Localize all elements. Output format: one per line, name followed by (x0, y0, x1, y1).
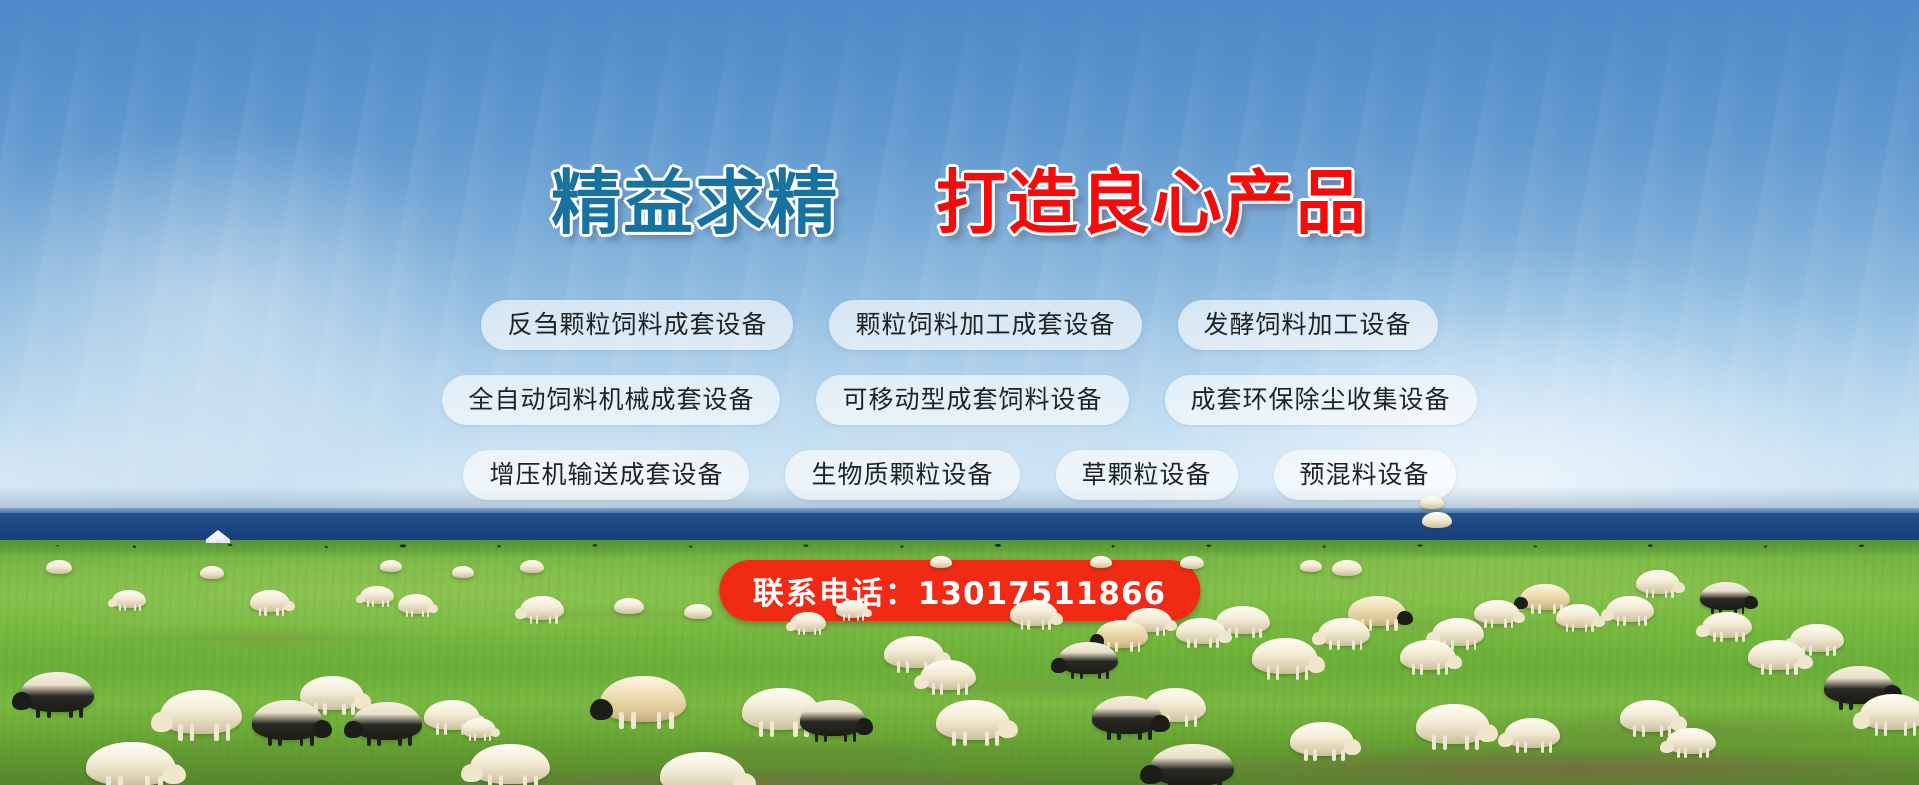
sheep (1400, 640, 1456, 670)
sheep (1300, 560, 1322, 572)
sheep-head (515, 608, 527, 619)
sheep (1010, 600, 1058, 626)
product-category-pill[interactable]: 发酵饲料加工设备 (1178, 300, 1438, 350)
sheep-head (1344, 739, 1361, 755)
sheep-leg (158, 776, 163, 785)
sheep-leg (259, 607, 261, 615)
sheep-leg (770, 721, 774, 737)
sheep-leg (1071, 667, 1074, 679)
sheep-leg (1235, 628, 1238, 639)
sheep-leg (214, 724, 219, 741)
sheep-leg (1341, 749, 1345, 762)
sheep-head (1744, 596, 1758, 609)
sheep-leg (264, 607, 266, 615)
sheep-leg (815, 728, 819, 742)
sheep-leg (1541, 741, 1544, 752)
sheep (1058, 642, 1118, 674)
sheep-leg (408, 732, 412, 746)
sheep-leg (1484, 619, 1487, 628)
sheep-leg (427, 610, 429, 618)
sheep-head (856, 718, 874, 735)
sheep-leg (1329, 640, 1332, 651)
sheep-leg (1644, 616, 1647, 626)
sheep-leg (411, 610, 413, 618)
sheep-leg (106, 776, 111, 785)
sheep (1700, 582, 1752, 610)
sheep (252, 700, 324, 740)
sheep-leg (1794, 663, 1797, 674)
sheep (1666, 728, 1716, 754)
sheep-leg (1660, 725, 1663, 737)
sheep (1606, 596, 1654, 622)
product-category-pill[interactable]: 预混料设备 (1274, 450, 1456, 500)
sheep (936, 700, 1010, 740)
sheep-leg (1769, 663, 1772, 674)
sheep-leg (1217, 777, 1222, 785)
sheep-head (428, 604, 438, 613)
sheep (1332, 560, 1362, 576)
sheep (1290, 722, 1354, 756)
sheep (86, 742, 176, 785)
sheep-leg (1305, 666, 1309, 680)
headline-part-1: 精益求精 (551, 162, 839, 244)
sheep-body (1090, 556, 1112, 568)
sheep-leg (372, 600, 374, 607)
sheep (600, 676, 686, 722)
sheep-leg (1524, 741, 1527, 752)
sheep-body (1422, 512, 1452, 528)
sheep-leg (1432, 735, 1436, 750)
sheep-leg (530, 615, 532, 624)
sheep (1252, 638, 1318, 674)
sheep-leg (1549, 741, 1552, 752)
sheep-leg (932, 683, 935, 694)
sheep-leg (1516, 741, 1519, 752)
sheep-leg (1699, 748, 1702, 758)
sheep (46, 560, 72, 574)
sheep-leg (1163, 627, 1166, 636)
sheep (1150, 744, 1234, 785)
sheep (520, 560, 544, 573)
sheep-leg (190, 724, 195, 741)
sheep-leg (995, 731, 999, 746)
sheep-leg (1706, 748, 1709, 758)
sheep-leg (1296, 666, 1300, 680)
sheep-leg (1786, 663, 1789, 674)
sheep-leg (1313, 749, 1317, 762)
sheep (1318, 618, 1370, 646)
product-category-pill[interactable]: 反刍颗粒饲料成套设备 (481, 300, 793, 350)
sheep-leg (1185, 715, 1188, 728)
sheep-leg (1252, 628, 1255, 639)
sheep (398, 594, 434, 614)
sheep-body (380, 560, 402, 572)
product-category-pill[interactable]: 草颗粒设备 (1056, 450, 1238, 500)
sheep (790, 612, 826, 632)
sheep (1504, 718, 1560, 748)
sheep-leg (1107, 726, 1111, 740)
sheep-leg (489, 734, 491, 742)
sheep-leg (814, 628, 816, 636)
sheep-leg (1267, 666, 1271, 680)
sheep-leg (1475, 735, 1479, 750)
sheep-body (452, 566, 474, 578)
sheep-leg (862, 614, 864, 621)
sheep (200, 566, 224, 579)
headline-part-2: 打造良心产品 (936, 162, 1368, 244)
sheep-head (786, 622, 796, 631)
sheep-leg (793, 721, 797, 737)
sheep-leg (853, 728, 857, 742)
sheep (1416, 704, 1490, 744)
sheep-leg (474, 734, 476, 742)
sheep-leg (278, 731, 282, 746)
product-category-pill[interactable]: 生物质颗粒设备 (785, 450, 1019, 500)
sheep-leg (1209, 638, 1212, 648)
sheep-leg (1720, 632, 1723, 642)
sheep-leg (1638, 616, 1641, 626)
sheep (360, 586, 394, 604)
sheep-leg (1394, 619, 1397, 630)
sheep-head (590, 699, 613, 720)
sheep (250, 590, 290, 612)
sheep-leg (226, 724, 231, 741)
sheep-leg (118, 776, 123, 785)
sheep (1420, 496, 1444, 509)
sheep-leg (1332, 749, 1336, 762)
sheep-leg (444, 723, 447, 734)
sheep-leg (145, 776, 150, 785)
sheep-leg (488, 775, 492, 785)
sheep-leg (1216, 638, 1219, 648)
sheep-leg (1437, 663, 1440, 674)
sheep-leg (1735, 632, 1738, 642)
sheep-head (344, 721, 363, 738)
sheep (160, 690, 242, 734)
product-category-pill[interactable]: 成套环保除尘收集设备 (1165, 375, 1477, 425)
sheep-head (1498, 733, 1513, 747)
sheep-head (1218, 631, 1232, 643)
sheep-head (1151, 715, 1170, 732)
sheep-leg (1904, 722, 1908, 736)
sheep-head (998, 720, 1018, 738)
sheep-leg (276, 607, 278, 615)
sheep-head (863, 609, 872, 617)
sheep-body (46, 560, 72, 574)
sheep-leg (1572, 623, 1574, 632)
sheep-head (1853, 712, 1871, 729)
sheep-leg (1809, 646, 1812, 657)
sheep-head (1513, 612, 1525, 623)
sheep-leg (1194, 638, 1197, 648)
product-category-row: 全自动饲料机械成套设备可移动型成套饲料设备成套环保除尘收集设备 (0, 375, 1919, 425)
sheep (1702, 612, 1752, 638)
sheep (660, 752, 746, 785)
sheep-leg (1531, 604, 1534, 614)
product-category-pill[interactable]: 可移动型成套饲料设备 (816, 375, 1128, 425)
sheep-leg (1742, 632, 1745, 642)
sheep-head (491, 728, 500, 737)
sheep-leg (523, 775, 527, 785)
sheep-leg (1337, 640, 1340, 651)
sheep-leg (1194, 715, 1197, 728)
sheep (470, 744, 550, 784)
sheep-leg (387, 600, 389, 607)
sheep-leg (1538, 604, 1541, 614)
sheep-leg (536, 615, 538, 624)
sheep-leg (1504, 619, 1507, 628)
sheep (684, 604, 712, 619)
sheep (380, 560, 402, 572)
sheep-leg (1386, 619, 1389, 630)
sheep-leg (310, 731, 314, 746)
sheep-leg (377, 732, 381, 746)
sheep-leg (963, 731, 967, 746)
sheep-head (1478, 724, 1498, 742)
sheep-head (1601, 609, 1614, 621)
sheep-head (12, 692, 32, 710)
sheep-head (1696, 625, 1710, 637)
sheep-head (1051, 658, 1067, 673)
sheep-leg (499, 775, 503, 785)
sheep (1180, 556, 1204, 569)
product-category-pill[interactable]: 全自动饲料机械成套设备 (442, 375, 780, 425)
sheep-leg (1098, 667, 1101, 679)
sheep-leg (1833, 646, 1836, 657)
sheep-head (1660, 741, 1674, 753)
sheep-leg (906, 661, 909, 673)
sheep-leg (1591, 623, 1593, 632)
sheep (930, 556, 952, 568)
sheep-leg (436, 723, 439, 734)
sheep-leg (985, 731, 989, 746)
product-category-pill[interactable]: 颗粒饲料加工成套设备 (829, 300, 1141, 350)
sheep-leg (940, 683, 943, 694)
sheep-leg (857, 614, 859, 621)
sheep-leg (1106, 667, 1109, 679)
sheep-leg (1259, 628, 1262, 639)
sheep-leg (268, 731, 272, 746)
sheep-leg (1027, 620, 1030, 630)
sheep-leg (1623, 616, 1626, 626)
sheep-body (1318, 618, 1370, 646)
sheep (1422, 512, 1452, 528)
sheep-leg (69, 703, 73, 718)
sheep-leg (1633, 725, 1636, 737)
sheep-leg (1839, 696, 1843, 710)
sheep-leg (1148, 726, 1152, 740)
sheep-head (151, 712, 173, 732)
sheep-leg (282, 607, 284, 615)
sheep-leg (803, 628, 805, 636)
sheep (920, 660, 976, 690)
sheep-leg (1130, 642, 1133, 653)
sheep-leg (1138, 726, 1142, 740)
product-category-row: 反刍颗粒饲料成套设备颗粒饲料加工成套设备发酵饲料加工设备 (0, 300, 1919, 350)
sheep-leg (1352, 640, 1355, 651)
sheep-leg (1566, 623, 1568, 632)
sheep (1748, 640, 1806, 670)
sheep-leg (79, 703, 83, 718)
sheep-leg (1048, 620, 1051, 630)
sheep-leg (1677, 748, 1680, 758)
sheep-leg (1420, 663, 1423, 674)
sheep-leg (1875, 722, 1879, 736)
sheep-leg (1080, 667, 1083, 679)
sheep-body (614, 598, 644, 614)
sheep-body (520, 560, 544, 573)
sheep-leg (555, 615, 557, 624)
sheep-leg (406, 610, 408, 618)
sheep-leg (1042, 620, 1045, 630)
sheep-leg (1761, 663, 1764, 674)
sheep-leg (1466, 640, 1469, 651)
sheep-leg (36, 703, 40, 718)
page-title: 精益求精 打造良心产品 (0, 168, 1919, 238)
sheep-leg (1491, 619, 1494, 628)
sheep-leg (843, 614, 845, 621)
sheep-head (914, 675, 929, 689)
sheep (112, 590, 146, 608)
sheep-body (200, 566, 224, 579)
sheep-leg (1445, 663, 1448, 674)
sheep-leg (1304, 749, 1308, 762)
sheep-leg (178, 724, 183, 741)
sheep (1636, 570, 1680, 594)
sheep-leg (669, 712, 674, 729)
sheep-leg (844, 728, 848, 742)
sheep-leg (631, 712, 636, 729)
sheep (836, 600, 868, 618)
product-category-pill[interactable]: 增压机输送成套设备 (463, 450, 749, 500)
sheep-body (930, 556, 952, 568)
sheep-leg (619, 712, 624, 729)
sheep-leg (1465, 735, 1469, 750)
sheep (1860, 694, 1919, 730)
sheep-leg (1021, 620, 1024, 630)
sheep-leg (534, 775, 538, 785)
sheep-leg (1511, 619, 1514, 628)
sheep-leg (759, 721, 763, 737)
sheep-leg (819, 628, 821, 636)
sheep-head (1397, 611, 1413, 625)
sheep (614, 598, 644, 614)
sheep-leg (798, 628, 800, 636)
sheep-leg (124, 604, 126, 611)
sheep-leg (957, 683, 960, 694)
sheep (352, 702, 422, 740)
sheep-leg (367, 732, 371, 746)
sheep-leg (1156, 627, 1159, 636)
sheep-leg (897, 661, 900, 673)
sheep-leg (1412, 663, 1415, 674)
sheep-leg (47, 703, 51, 718)
product-category-list: 反刍颗粒饲料成套设备颗粒饲料加工成套设备发酵饲料加工设备全自动饲料机械成套设备可… (0, 300, 1919, 525)
sheep-leg (422, 610, 424, 618)
sheep-head (313, 720, 332, 738)
sheep-leg (824, 728, 828, 742)
sheep (20, 672, 94, 712)
sheep (1176, 618, 1226, 644)
sheep-leg (657, 712, 662, 729)
sheep-head (461, 764, 483, 782)
sheep-leg (139, 604, 141, 611)
sheep (520, 596, 564, 620)
sheep-leg (398, 732, 402, 746)
sheep-leg (1117, 726, 1121, 740)
sheep (452, 566, 474, 578)
sheep-leg (1884, 722, 1888, 736)
sheep-head (1447, 655, 1462, 669)
sheep-leg (1642, 725, 1645, 737)
sheep-leg (965, 683, 968, 694)
sheep-body (684, 604, 712, 619)
sheep-leg (1849, 696, 1853, 710)
sheep (800, 700, 866, 736)
sheep-body (1300, 560, 1322, 572)
sheep-head (1050, 613, 1063, 625)
sheep-body (1420, 496, 1444, 509)
sheep-leg (1671, 589, 1673, 598)
sheep-head (1673, 582, 1685, 593)
sheep-leg (1180, 777, 1185, 785)
sheep-leg (342, 703, 346, 716)
sheep-body (1332, 560, 1362, 576)
sheep-leg (1913, 722, 1917, 736)
sheep (462, 718, 496, 738)
sheep-leg (952, 731, 956, 746)
sheep-leg (1187, 638, 1190, 648)
sheep-head (1140, 765, 1163, 784)
sheep-head (1308, 656, 1326, 673)
sheep-leg (1684, 748, 1687, 758)
sheep (1092, 696, 1162, 734)
sheep-leg (1276, 666, 1280, 680)
sheep-body (1180, 556, 1204, 569)
sheep (1556, 604, 1600, 628)
sheep-leg (300, 731, 304, 746)
sheep-leg (1713, 632, 1716, 642)
sheep-head (1797, 655, 1813, 669)
sheep-leg (1617, 616, 1620, 626)
sheep-leg (1443, 735, 1447, 750)
sheep-leg (1826, 646, 1829, 657)
sheep-head (284, 601, 295, 611)
sheep-leg (1168, 777, 1173, 785)
sheep-leg (848, 614, 850, 621)
product-category-row: 增压机输送成套设备生物质颗粒设备草颗粒设备预混料设备 (0, 450, 1919, 500)
sheep-head (162, 764, 186, 784)
sheep (1090, 556, 1112, 568)
hero-banner: 精益求精 打造良心产品 反刍颗粒饲料成套设备颗粒饲料加工成套设备发酵饲料加工设备… (0, 0, 1919, 785)
sheep-leg (1205, 777, 1210, 785)
